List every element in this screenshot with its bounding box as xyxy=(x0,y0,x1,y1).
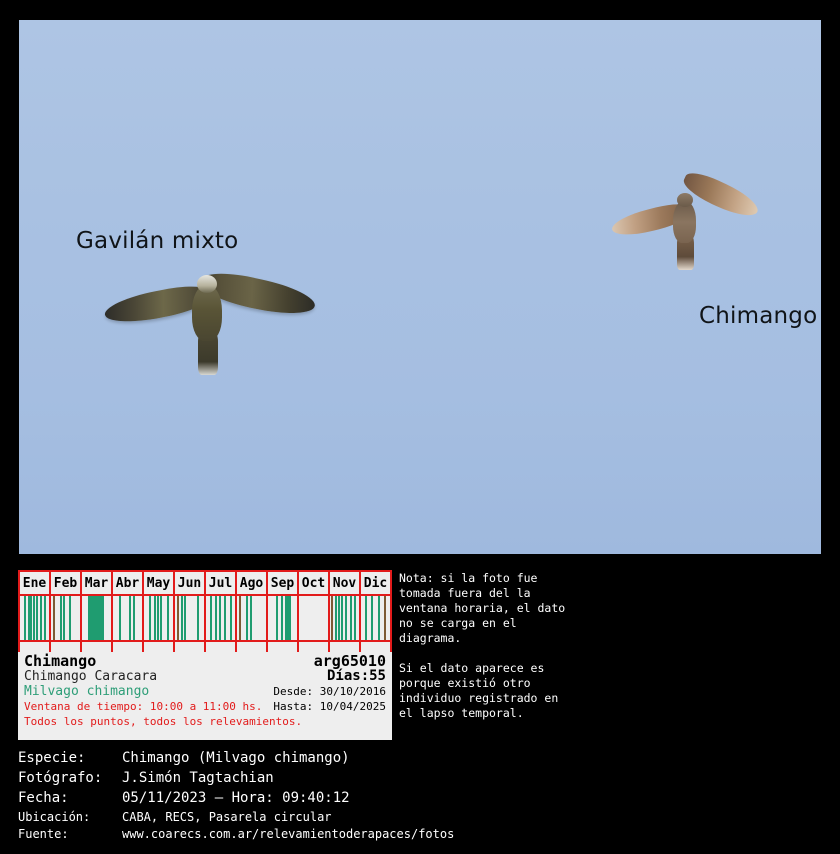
month-tick-area xyxy=(237,596,266,642)
month-tick-area xyxy=(113,596,142,642)
bird-head xyxy=(197,275,217,293)
month-tick-area xyxy=(175,596,204,642)
month-label: Feb xyxy=(51,572,80,596)
metadata-row: Fuente:www.coarecs.com.ar/relevamientode… xyxy=(18,827,828,844)
month-tick-area xyxy=(299,596,328,642)
observation-tick xyxy=(154,596,156,640)
observation-tick-alt xyxy=(384,596,386,640)
month-footer-cell xyxy=(361,642,392,652)
month-footer-cell xyxy=(82,642,113,652)
species-english-name: Chimango Caracara xyxy=(24,669,157,684)
note-paragraph-1: Nota: si la foto fue tomada fuera del la… xyxy=(399,571,569,646)
observation-tick xyxy=(119,596,121,640)
month-column-feb[interactable]: Feb xyxy=(51,572,82,642)
observation-tick xyxy=(350,596,352,640)
bird-photo: Gavilán mixto Chimango xyxy=(19,20,821,554)
observation-tick xyxy=(224,596,226,640)
observation-tick xyxy=(215,596,217,640)
observation-tick xyxy=(230,596,232,640)
month-column-jun[interactable]: Jun xyxy=(175,572,206,642)
observation-tick xyxy=(276,596,278,640)
observation-tick xyxy=(289,596,291,640)
metadata-value: 05/11/2023 — Hora: 09:40:12 xyxy=(122,790,350,806)
species-info-row: Chimango Caracara Días:55 xyxy=(24,669,386,684)
month-label: Dic xyxy=(361,572,390,596)
bird-chimango xyxy=(611,175,761,270)
metadata-key: Fuente: xyxy=(18,827,122,841)
observation-tick xyxy=(246,596,248,640)
month-label: Sep xyxy=(268,572,297,596)
month-column-jul[interactable]: Jul xyxy=(206,572,237,642)
month-column-abr[interactable]: Abr xyxy=(113,572,144,642)
observation-tick xyxy=(341,596,343,640)
month-label: Oct xyxy=(299,572,328,596)
month-column-ago[interactable]: Ago xyxy=(237,572,268,642)
observation-tick xyxy=(63,596,65,640)
observation-tick xyxy=(40,596,42,640)
observation-tick xyxy=(33,596,35,640)
observation-tick xyxy=(30,596,32,640)
observation-tick xyxy=(133,596,135,640)
month-footer-cell xyxy=(206,642,237,652)
species-info-row: Chimango arg65010 xyxy=(24,654,386,669)
observation-tick xyxy=(197,596,199,640)
observation-tick-alt xyxy=(331,596,333,640)
observation-tick xyxy=(157,596,159,640)
note-block: Nota: si la foto fue tomada fuera del la… xyxy=(399,571,569,721)
month-tick-area xyxy=(330,596,359,642)
month-footer-cell xyxy=(113,642,144,652)
metadata-key: Especie: xyxy=(18,750,122,766)
observation-tick xyxy=(354,596,356,640)
observation-tick xyxy=(365,596,367,640)
species-latin-name: Milvago chimango xyxy=(24,684,149,699)
observation-tick xyxy=(129,596,131,640)
month-footer-cell xyxy=(237,642,268,652)
species-common-name: Chimango xyxy=(24,654,96,669)
observation-tick xyxy=(181,596,183,640)
month-label: May xyxy=(144,572,173,596)
metadata-value[interactable]: www.coarecs.com.ar/relevamientoderapaces… xyxy=(122,827,454,841)
month-tick-area xyxy=(51,596,80,642)
date-range-to: Hasta: 10/04/2025 xyxy=(273,699,386,714)
month-footer-cell xyxy=(268,642,299,652)
observation-tick xyxy=(210,596,212,640)
observation-tick xyxy=(160,596,162,640)
photo-label-chimango: Chimango xyxy=(699,303,817,329)
bird-gavilan-mixto xyxy=(104,255,314,375)
all-points-text: Todos los puntos, todos los relevamiento… xyxy=(24,714,302,729)
species-days-count: Días:55 xyxy=(327,669,386,684)
observation-tick xyxy=(378,596,380,640)
month-tick-area xyxy=(361,596,390,642)
observation-tick-alt xyxy=(239,596,241,640)
species-info-row: Milvago chimango Desde: 30/10/2016 xyxy=(24,684,386,699)
month-tick-area xyxy=(268,596,297,642)
note-paragraph-2: Si el dato aparece es porque existió otr… xyxy=(399,661,569,721)
month-column-oct[interactable]: Oct xyxy=(299,572,330,642)
time-window-text: Ventana de tiempo: 10:00 a 11:00 hs. xyxy=(24,699,262,714)
bird-torso xyxy=(192,285,222,341)
observation-tick xyxy=(69,596,71,640)
species-code: arg65010 xyxy=(314,654,386,669)
observation-tick xyxy=(44,596,46,640)
month-footer-cell xyxy=(18,642,51,652)
species-info-row: Todos los puntos, todos los relevamiento… xyxy=(24,714,386,729)
observation-tick xyxy=(335,596,337,640)
month-footer-cell xyxy=(175,642,206,652)
species-info-row: Ventana de tiempo: 10:00 a 11:00 hs. Has… xyxy=(24,699,386,714)
observation-tick xyxy=(371,596,373,640)
month-footer-cell xyxy=(144,642,175,652)
month-grid: EneFebMarAbrMayJunJulAgoSepOctNovDic xyxy=(18,570,392,642)
metadata-row: Especie:Chimango (Milvago chimango) xyxy=(18,750,828,770)
month-tick-area xyxy=(82,596,111,642)
month-column-ene[interactable]: Ene xyxy=(20,572,51,642)
metadata-key: Fotógrafo: xyxy=(18,770,122,786)
observation-tick xyxy=(345,596,347,640)
month-label: Abr xyxy=(113,572,142,596)
metadata-row: Fecha:05/11/2023 — Hora: 09:40:12 xyxy=(18,790,828,810)
date-range-from: Desde: 30/10/2016 xyxy=(273,684,386,699)
month-label: Jul xyxy=(206,572,235,596)
photo-label-gavilan-mixto: Gavilán mixto xyxy=(76,228,238,254)
month-label: Mar xyxy=(82,572,111,596)
month-column-nov[interactable]: Nov xyxy=(330,572,361,642)
observation-tick xyxy=(24,596,26,640)
metadata-key: Fecha: xyxy=(18,790,122,806)
phenology-calendar-panel: EneFebMarAbrMayJunJulAgoSepOctNovDic Chi… xyxy=(18,570,392,740)
metadata-row: Fotógrafo:J.Simón Tagtachian xyxy=(18,770,828,790)
species-info-block: Chimango arg65010 Chimango Caracara Días… xyxy=(18,652,392,738)
month-tick-area xyxy=(206,596,235,642)
metadata-row: Ubicación:CABA, RECS, Pasarela circular xyxy=(18,810,828,827)
month-column-sep[interactable]: Sep xyxy=(268,572,299,642)
month-column-dic[interactable]: Dic xyxy=(361,572,390,642)
metadata-value: J.Simón Tagtachian xyxy=(122,770,274,786)
observation-tick xyxy=(36,596,38,640)
month-label: Jun xyxy=(175,572,204,596)
observation-tick xyxy=(149,596,151,640)
observation-tick xyxy=(281,596,283,640)
observation-tick xyxy=(167,596,169,640)
observation-tick xyxy=(219,596,221,640)
month-grid-footer xyxy=(18,642,392,652)
month-label: Nov xyxy=(330,572,359,596)
month-column-may[interactable]: May xyxy=(144,572,175,642)
photo-metadata: Especie:Chimango (Milvago chimango)Fotóg… xyxy=(18,750,828,844)
month-footer-cell xyxy=(299,642,330,652)
observation-tick xyxy=(338,596,340,640)
month-label: Ene xyxy=(20,572,49,596)
observation-tick xyxy=(102,596,104,640)
metadata-key: Ubicación: xyxy=(18,810,122,824)
bird-head xyxy=(677,193,693,207)
bird-torso xyxy=(673,201,696,243)
observation-tick xyxy=(184,596,186,640)
observation-tick xyxy=(60,596,62,640)
observation-tick-alt xyxy=(53,596,55,640)
note-spacer xyxy=(399,646,569,661)
month-tick-area xyxy=(144,596,173,642)
month-footer-cell xyxy=(51,642,82,652)
month-column-mar[interactable]: Mar xyxy=(82,572,113,642)
month-footer-cell xyxy=(330,642,361,652)
observation-tick xyxy=(250,596,252,640)
month-tick-area xyxy=(20,596,49,642)
month-label: Ago xyxy=(237,572,266,596)
metadata-value: CABA, RECS, Pasarela circular xyxy=(122,810,332,824)
metadata-value: Chimango (Milvago chimango) xyxy=(122,750,350,766)
observation-tick-alt xyxy=(177,596,179,640)
